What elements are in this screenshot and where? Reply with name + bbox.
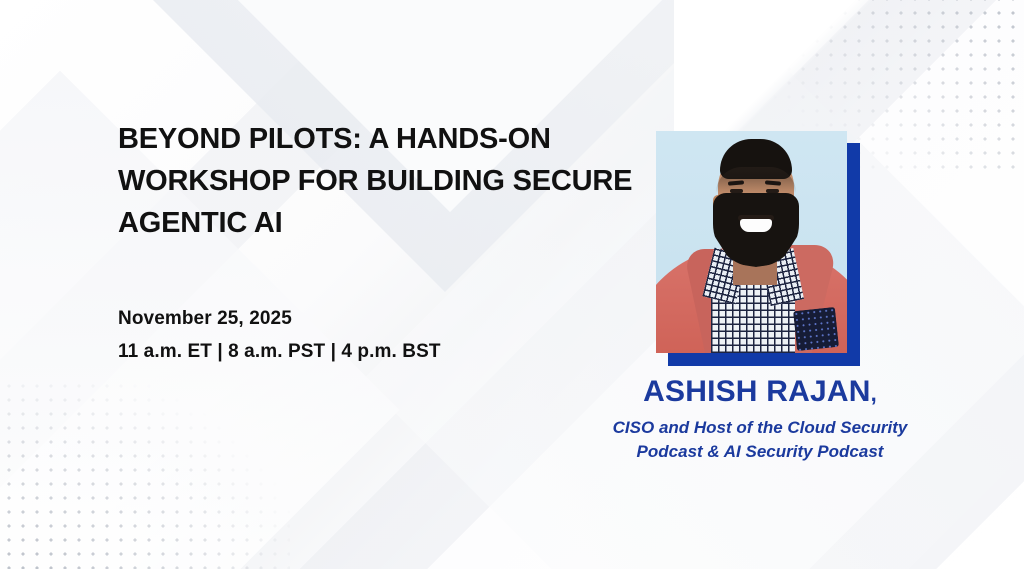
event-date: November 25, 2025 bbox=[118, 302, 638, 335]
webinar-promo-banner: BEYOND PILOTS: A HANDS-ON WORKSHOP FOR B… bbox=[0, 0, 1024, 569]
speaker-name-comma: , bbox=[871, 381, 877, 406]
speaker-role-line-1: CISO and Host of the Cloud Security bbox=[560, 416, 960, 440]
speaker-headshot bbox=[656, 131, 847, 353]
page-title: BEYOND PILOTS: A HANDS-ON WORKSHOP FOR B… bbox=[118, 118, 638, 244]
speaker-role-line-2: Podcast & AI Security Podcast bbox=[560, 440, 960, 464]
halftone-dots-bottom-left bbox=[0, 379, 290, 569]
event-details-block: November 25, 2025 11 a.m. ET | 8 a.m. PS… bbox=[118, 302, 638, 368]
headshot-eye-right bbox=[766, 189, 779, 193]
headshot-eye-left bbox=[730, 189, 743, 193]
speaker-photo-block bbox=[656, 131, 848, 354]
event-times: 11 a.m. ET | 8 a.m. PST | 4 p.m. BST bbox=[118, 335, 638, 368]
speaker-role: CISO and Host of the Cloud Security Podc… bbox=[560, 416, 960, 464]
speaker-name-text: ASHISH RAJAN bbox=[643, 375, 870, 408]
headshot-pocket-square bbox=[793, 307, 839, 351]
headshot-smile bbox=[740, 219, 772, 232]
headline-block: BEYOND PILOTS: A HANDS-ON WORKSHOP FOR B… bbox=[118, 118, 638, 244]
speaker-info-block: ASHISH RAJAN, CISO and Host of the Cloud… bbox=[560, 374, 960, 464]
speaker-name: ASHISH RAJAN, bbox=[560, 374, 960, 412]
headshot-hair-fade bbox=[716, 167, 796, 193]
